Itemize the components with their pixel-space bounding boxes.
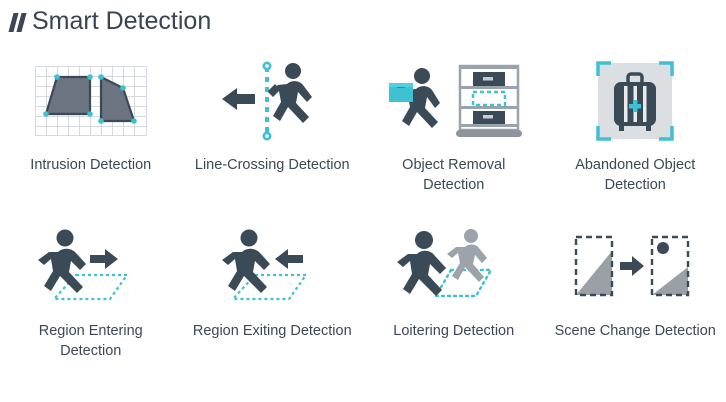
feature-card-abandoned-object-detection[interactable]: Abandoned Object Detection	[545, 52, 726, 218]
feature-card-loitering-detection[interactable]: Loitering Detection	[363, 218, 545, 378]
double-slash-icon	[8, 10, 30, 32]
suitcase-in-brackets-icon	[545, 52, 726, 150]
two-figures-dotted-path-icon	[363, 218, 545, 316]
feature-label: Abandoned Object Detection	[553, 155, 718, 195]
feature-card-region-exiting-detection[interactable]: Region Exiting Detection	[182, 218, 364, 378]
page-title-row: Smart Detection	[8, 4, 211, 38]
runner-left-arrow-region-icon	[182, 218, 364, 316]
feature-label: Region Entering Detection	[8, 321, 173, 361]
scene-after-icon	[652, 237, 688, 295]
scene-before-icon	[576, 237, 612, 295]
left-arrow-icon	[275, 249, 303, 269]
feature-card-scene-change-detection[interactable]: Scene Change Detection	[545, 218, 726, 378]
feature-card-line-crossing-detection[interactable]: Line-Crossing Detection	[182, 52, 364, 218]
ghost-figure-icon	[447, 229, 487, 282]
page-title: Smart Detection	[32, 6, 211, 36]
shelf-icon	[456, 66, 522, 137]
detection-feature-grid: Intrusion Detection	[0, 52, 726, 378]
runner-carrying-box-shelf-icon	[363, 52, 545, 150]
feature-card-object-removal-detection[interactable]: Object Removal Detection	[363, 52, 545, 218]
suitcase-icon	[614, 74, 656, 131]
feature-card-region-entering-detection[interactable]: Region Entering Detection	[0, 218, 182, 378]
dashed-line-arrow-runner-icon	[182, 52, 364, 150]
feature-label: Loitering Detection	[393, 321, 514, 341]
carried-box-icon	[389, 83, 413, 102]
feature-card-intrusion-detection[interactable]: Intrusion Detection	[0, 52, 182, 218]
left-arrow-icon	[222, 88, 255, 110]
grid-two-polygons-icon	[0, 52, 182, 150]
feature-label: Scene Change Detection	[555, 321, 716, 341]
feature-label: Intrusion Detection	[30, 155, 151, 175]
right-arrow-icon	[620, 256, 644, 276]
feature-label: Region Exiting Detection	[193, 321, 352, 341]
smart-detection-page: Smart Detection	[0, 0, 726, 402]
runner-right-arrow-region-icon	[0, 218, 182, 316]
right-arrow-icon	[90, 249, 118, 269]
feature-label: Object Removal Detection	[371, 155, 536, 195]
two-scenes-arrow-icon	[545, 218, 726, 316]
primary-figure-icon	[397, 231, 446, 296]
feature-label: Line-Crossing Detection	[195, 155, 350, 175]
